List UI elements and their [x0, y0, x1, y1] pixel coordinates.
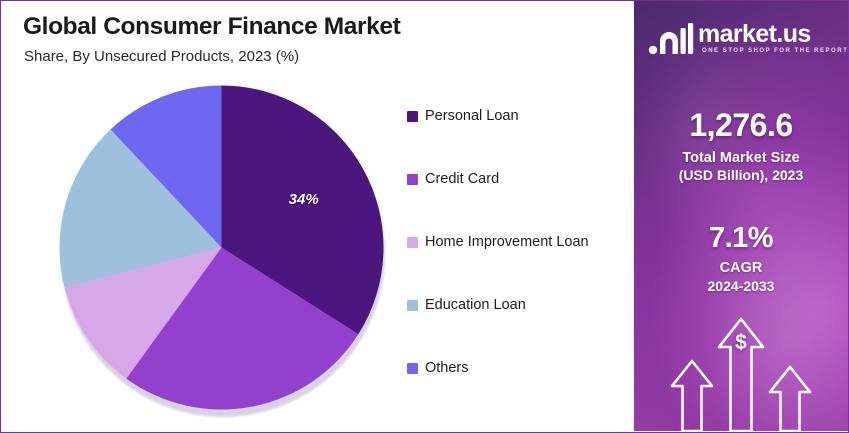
side-panel: market.us ONE STOP SHOP FOR THE REPORTS … — [634, 1, 848, 431]
legend-swatch-icon — [407, 300, 418, 311]
legend-item[interactable]: Credit Card — [407, 171, 632, 187]
stat-value: 1,276.6 — [634, 109, 848, 143]
legend-item[interactable]: Home Improvement Loan — [407, 234, 632, 250]
stat-caption-line2: (USD Billion), 2023 — [634, 167, 848, 185]
stat-value: 7.1% — [634, 223, 848, 253]
legend-item[interactable]: Education Loan — [407, 297, 632, 313]
stat-caption-line1: CAGR — [634, 259, 848, 278]
legend-swatch-icon — [407, 363, 418, 374]
pie-slice-label: 34% — [289, 191, 319, 208]
stat-caption-line1: Total Market Size — [634, 149, 848, 168]
stat-caption-line2: 2024-2033 — [634, 278, 848, 296]
infographic-root: Global Consumer Finance Market Share, By… — [0, 0, 849, 433]
growth-arrows-icon — [634, 313, 848, 431]
market-us-logo-text: market.us — [698, 20, 811, 49]
market-us-logo[interactable]: market.us ONE STOP SHOP FOR THE REPORTS — [648, 19, 834, 63]
pie-chart: 34% — [59, 85, 389, 415]
market-us-logo-tagline: ONE STOP SHOP FOR THE REPORTS — [702, 47, 848, 54]
pie-slices — [59, 85, 384, 410]
legend-item-label: Personal Loan — [425, 108, 519, 124]
legend-swatch-icon — [407, 237, 418, 248]
legend-item-label: Others — [425, 360, 469, 376]
legend-swatch-icon — [407, 174, 418, 185]
legend-item-label: Home Improvement Loan — [425, 234, 589, 250]
chart-subtitle: Share, By Unsecured Products, 2023 (%) — [24, 48, 299, 65]
market-us-logo-icon — [648, 21, 694, 57]
stat-cagr: 7.1% CAGR 2024-2033 — [634, 223, 848, 296]
legend-item-label: Education Loan — [425, 297, 526, 313]
legend-swatch-icon — [407, 111, 418, 122]
legend-item[interactable]: Others — [407, 360, 632, 376]
legend-item[interactable]: Personal Loan — [407, 108, 632, 124]
chart-panel: Global Consumer Finance Market Share, By… — [1, 1, 633, 431]
chart-legend: Personal LoanCredit CardHome Improvement… — [407, 108, 632, 423]
legend-item-label: Credit Card — [425, 171, 499, 187]
stat-total-market-size: 1,276.6 Total Market Size (USD Billion),… — [634, 109, 848, 185]
page-title: Global Consumer Finance Market — [23, 13, 400, 41]
